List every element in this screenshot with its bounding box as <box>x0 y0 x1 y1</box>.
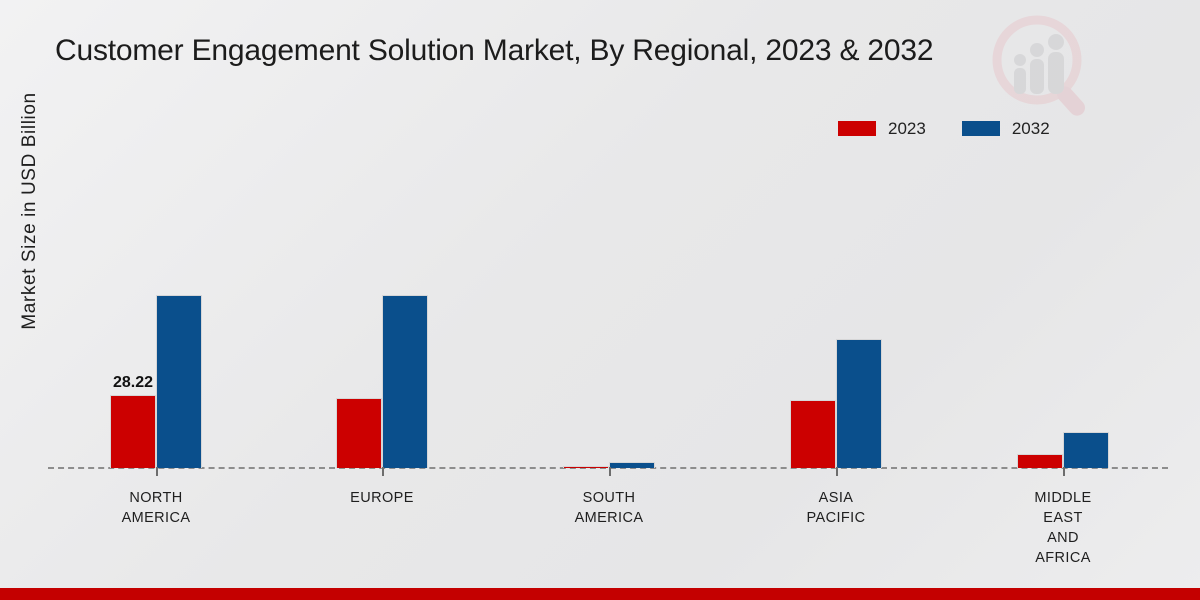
category-label-line: AMERICA <box>509 508 709 528</box>
bar-2023[interactable]: 28.22 <box>110 395 156 468</box>
bar-group <box>332 168 432 468</box>
x-axis-category-label: SOUTHAMERICA <box>509 488 709 528</box>
plot-area: 28.22NORTHAMERICAEUROPESOUTHAMERICAASIAP… <box>0 0 1200 600</box>
category-label-line: EUROPE <box>282 488 482 508</box>
category-label-line: NORTH <box>56 488 256 508</box>
bar-2032[interactable] <box>1063 432 1109 468</box>
bar-group: 28.22 <box>106 168 206 468</box>
category-label-line: ASIA <box>736 488 936 508</box>
bar-group <box>786 168 886 468</box>
x-axis-tick <box>1063 467 1065 476</box>
category-label-line: AFRICA <box>963 548 1163 568</box>
bar-2023[interactable] <box>336 398 382 468</box>
x-axis-tick <box>382 467 384 476</box>
bar-2023[interactable] <box>790 400 836 468</box>
x-axis-tick <box>609 467 611 476</box>
bar-group <box>559 168 659 468</box>
x-axis-tick <box>836 467 838 476</box>
bar-2032[interactable] <box>382 295 428 468</box>
bar-2032[interactable] <box>609 462 655 468</box>
bar-2023[interactable] <box>563 466 609 468</box>
bar-value-label: 28.22 <box>113 374 153 392</box>
category-label-line: EAST <box>963 508 1163 528</box>
category-label-line: AMERICA <box>56 508 256 528</box>
x-axis-category-label: MIDDLEEASTANDAFRICA <box>963 488 1163 568</box>
category-label-line: SOUTH <box>509 488 709 508</box>
bar-2032[interactable] <box>836 339 882 468</box>
category-label-line: AND <box>963 528 1163 548</box>
chart-page: Customer Engagement Solution Market, By … <box>0 0 1200 600</box>
x-axis-category-label: ASIAPACIFIC <box>736 488 936 528</box>
x-axis-category-label: EUROPE <box>282 488 482 508</box>
bar-2023[interactable] <box>1017 454 1063 468</box>
category-label-line: MIDDLE <box>963 488 1163 508</box>
x-axis-tick <box>156 467 158 476</box>
footer-accent-bar <box>0 588 1200 600</box>
bar-group <box>1013 168 1113 468</box>
category-label-line: PACIFIC <box>736 508 936 528</box>
x-axis-category-label: NORTHAMERICA <box>56 488 256 528</box>
bar-2032[interactable] <box>156 295 202 468</box>
